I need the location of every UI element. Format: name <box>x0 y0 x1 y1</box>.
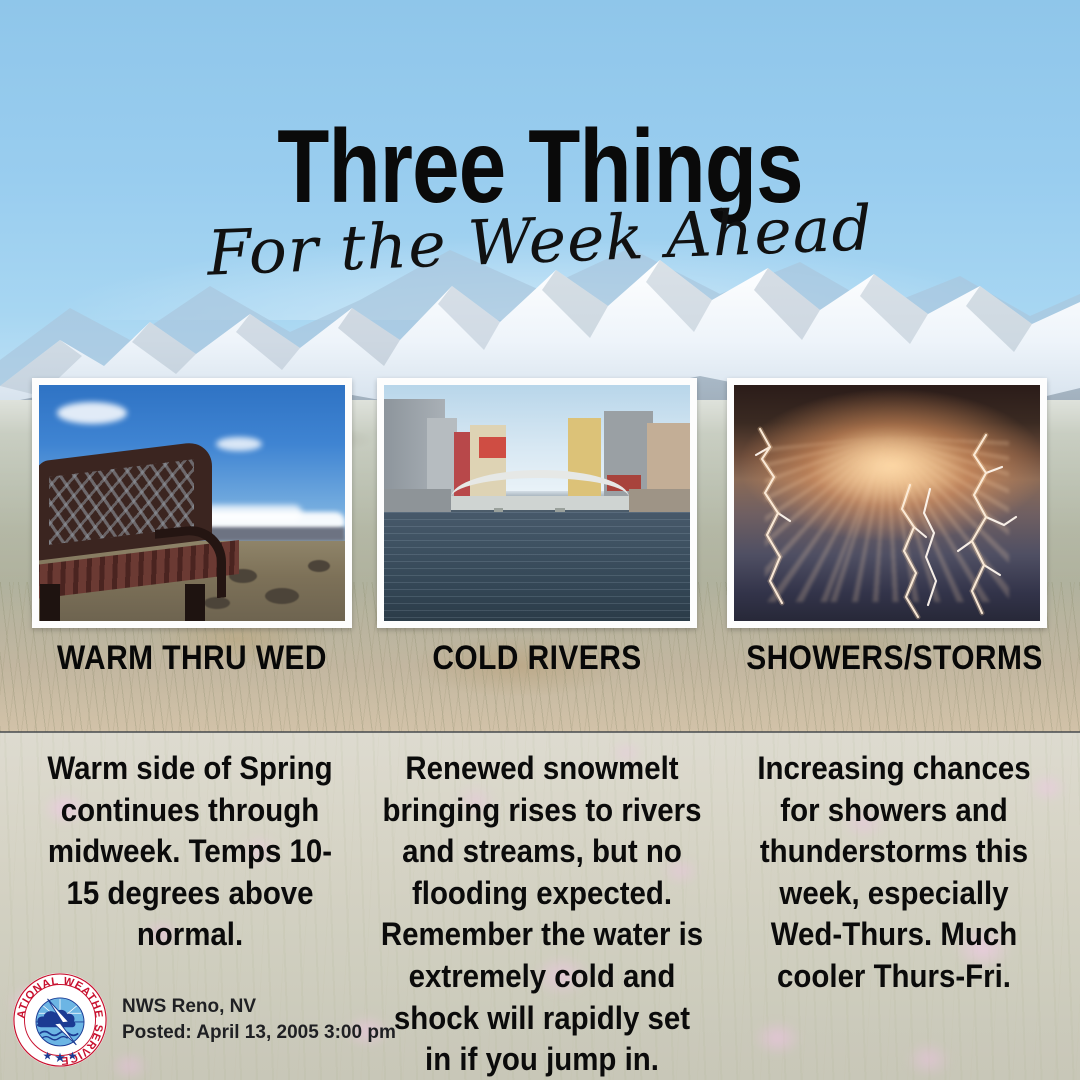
column-header-3: SHOWERS/STORMS <box>746 636 1028 680</box>
national-weather-service-seal-icon: NATIONAL WEATHER SERVICE <box>12 972 108 1068</box>
column-body-3: Increasing chances for showers and thund… <box>741 748 1046 998</box>
column-header-2: COLD RIVERS <box>396 636 678 680</box>
photo-river-bridge <box>384 385 690 621</box>
column-body-2: Renewed snowmelt bringing rises to river… <box>378 748 706 1080</box>
column-body-1: Warm side of Spring continues through mi… <box>37 748 342 956</box>
column-headers: WARM THRU WED COLD RIVERS SHOWERS/STORMS <box>0 636 1080 682</box>
section-divider <box>0 731 1080 733</box>
title-block: Three Things For the Week Ahead <box>0 120 1080 272</box>
footer-text: NWS Reno, NV Posted: April 13, 2005 3:00… <box>122 994 396 1046</box>
column-header-1: WARM THRU WED <box>51 636 333 680</box>
footer-posted: Posted: April 13, 2005 3:00 pm <box>122 1020 396 1046</box>
weather-infographic-poster: Three Things For the Week Ahead <box>0 0 1080 1080</box>
photo-card-showers-storms <box>727 378 1047 628</box>
photo-card-cold-rivers <box>377 378 697 628</box>
lightning-bolts <box>734 385 1040 621</box>
photo-card-warm-thru-wed <box>32 378 352 628</box>
photo-row <box>0 378 1080 628</box>
footer: NATIONAL WEATHER SERVICE <box>12 972 396 1068</box>
park-bench <box>39 451 247 621</box>
photo-bench-overlook <box>39 385 345 621</box>
footer-office: NWS Reno, NV <box>122 994 396 1020</box>
photo-lightning-storm <box>734 385 1040 621</box>
